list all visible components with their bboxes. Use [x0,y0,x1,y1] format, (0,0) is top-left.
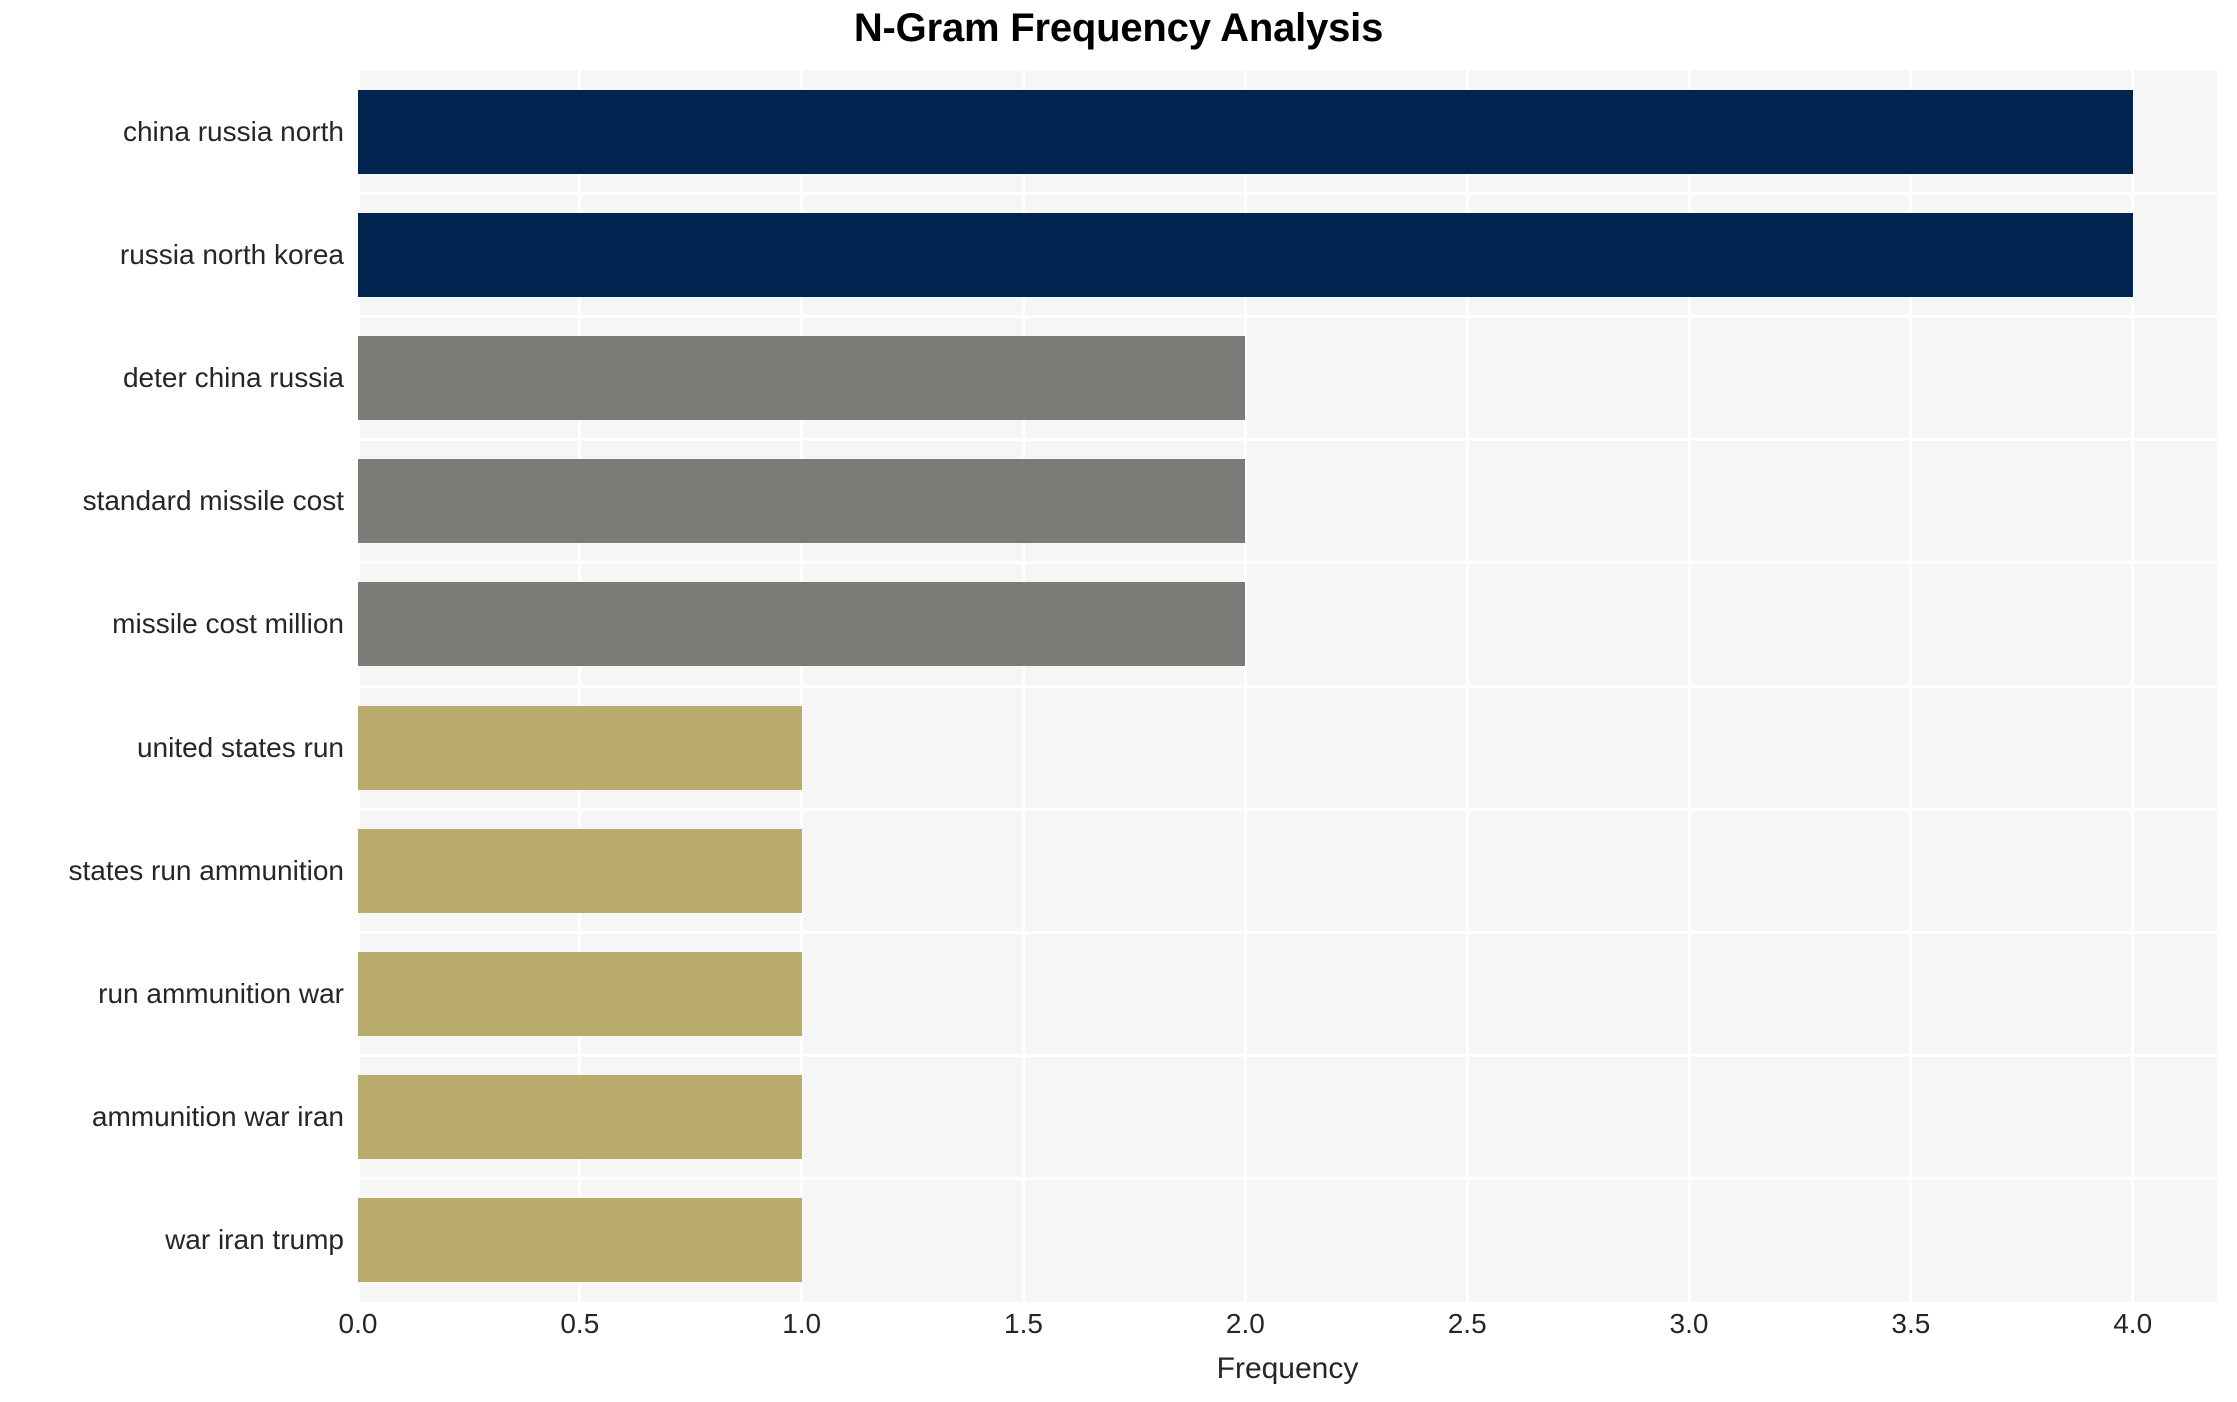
y-axis-tick-label: deter china russia [0,336,344,420]
bar[interactable] [358,336,1245,420]
horizontal-gridline [358,1054,2217,1057]
bar[interactable] [358,213,2133,297]
plot-area [358,70,2217,1302]
bar[interactable] [358,459,1245,543]
y-axis-tick-label: ammunition war iran [0,1075,344,1159]
bar[interactable] [358,90,2133,174]
y-axis-tick-label: china russia north [0,90,344,174]
chart-figure: N-Gram Frequency Analysis china russia n… [0,0,2237,1402]
x-axis-tick-label: 3.0 [1670,1308,1709,1340]
horizontal-gridline [358,192,2217,195]
bar[interactable] [358,829,802,913]
horizontal-gridline [358,685,2217,688]
x-axis-tick-label: 0.0 [339,1308,378,1340]
horizontal-gridline [358,315,2217,318]
y-axis-tick-labels: china russia northrussia north koreadete… [0,70,344,1302]
horizontal-gridline [358,931,2217,934]
bar[interactable] [358,1075,802,1159]
x-axis-tick-label: 2.5 [1448,1308,1487,1340]
y-axis-tick-label: states run ammunition [0,829,344,913]
bar[interactable] [358,706,802,790]
y-axis-tick-label: russia north korea [0,213,344,297]
x-axis-tick-label: 4.0 [2113,1308,2152,1340]
x-axis-tick-label: 0.5 [560,1308,599,1340]
x-axis-tick-label: 3.5 [1891,1308,1930,1340]
bar[interactable] [358,582,1245,666]
x-axis-title: Frequency [358,1352,2217,1386]
x-axis-tick-label: 2.0 [1226,1308,1265,1340]
y-axis-tick-label: standard missile cost [0,459,344,543]
x-axis-tick-label: 1.0 [782,1308,821,1340]
horizontal-gridline [358,808,2217,811]
y-axis-tick-label: run ammunition war [0,952,344,1036]
x-axis-tick-labels: 0.00.51.01.52.02.53.03.54.0 [358,1308,2217,1352]
horizontal-gridline [358,1177,2217,1180]
horizontal-gridline [358,561,2217,564]
y-axis-tick-label: missile cost million [0,582,344,666]
x-axis-tick-label: 1.5 [1004,1308,1043,1340]
y-axis-tick-label: united states run [0,706,344,790]
y-axis-tick-label: war iran trump [0,1198,344,1282]
bar[interactable] [358,1198,802,1282]
bar[interactable] [358,952,802,1036]
page-title: N-Gram Frequency Analysis [0,6,2237,51]
horizontal-gridline [358,438,2217,441]
